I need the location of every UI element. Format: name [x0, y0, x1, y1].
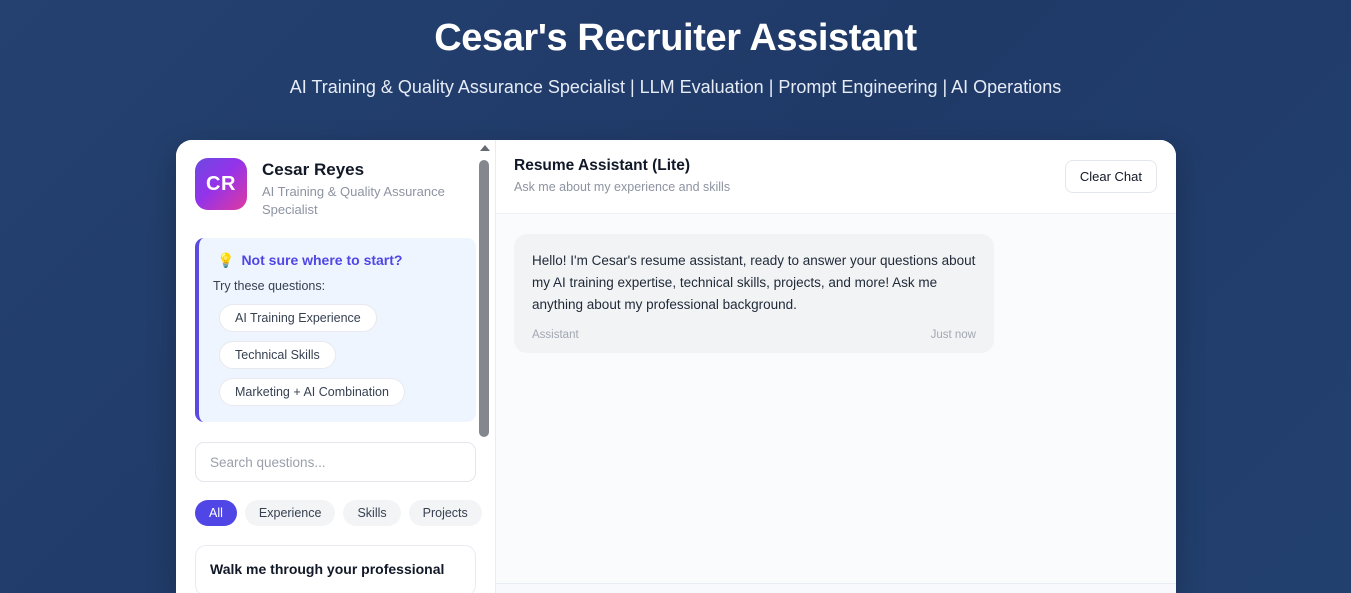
filter-chip-experience[interactable]: Experience: [245, 500, 336, 526]
chat-input-area[interactable]: [496, 584, 1176, 593]
lightbulb-icon: 💡: [217, 253, 234, 267]
clear-chat-button[interactable]: Clear Chat: [1065, 160, 1157, 193]
chat-subtitle: Ask me about my experience and skills: [514, 180, 730, 194]
chat-panel: Resume Assistant (Lite) Ask me about my …: [496, 140, 1176, 593]
page-header: Cesar's Recruiter Assistant AI Training …: [0, 0, 1351, 99]
filter-chip-group: All Experience Skills Projects: [195, 500, 476, 526]
chat-title: Resume Assistant (Lite): [514, 156, 730, 176]
scroll-up-arrow-icon[interactable]: [480, 145, 490, 151]
chat-message-text: Hello! I'm Cesar's resume assistant, rea…: [532, 250, 976, 316]
sidebar-scrollbar[interactable]: [477, 140, 491, 593]
sidebar: CR Cesar Reyes AI Training & Quality Ass…: [176, 140, 496, 593]
chat-message-meta: Assistant Just now: [532, 329, 976, 341]
filter-chip-projects[interactable]: Projects: [409, 500, 482, 526]
question-card-title: Walk me through your professional: [210, 560, 461, 579]
chat-message-list: Hello! I'm Cesar's resume assistant, rea…: [496, 214, 1176, 583]
chat-message-author: Assistant: [532, 329, 579, 341]
profile-name: Cesar Reyes: [262, 159, 457, 180]
chat-message-assistant: Hello! I'm Cesar's resume assistant, rea…: [514, 234, 994, 353]
tip-title-label: Not sure where to start?: [241, 252, 402, 268]
profile-text: Cesar Reyes AI Training & Quality Assura…: [262, 158, 457, 218]
filter-chip-skills[interactable]: Skills: [343, 500, 400, 526]
page-subtitle: AI Training & Quality Assurance Speciali…: [0, 76, 1351, 99]
chat-header: Resume Assistant (Lite) Ask me about my …: [496, 140, 1176, 214]
question-card[interactable]: Walk me through your professional: [195, 545, 476, 593]
page-title: Cesar's Recruiter Assistant: [0, 16, 1351, 62]
profile-role: AI Training & Quality Assurance Speciali…: [262, 183, 457, 218]
sidebar-content: CR Cesar Reyes AI Training & Quality Ass…: [176, 140, 495, 593]
profile-header: CR Cesar Reyes AI Training & Quality Ass…: [195, 158, 476, 218]
suggestion-chip-ai-training-experience[interactable]: AI Training Experience: [219, 304, 377, 332]
tip-box: 💡 Not sure where to start? Try these que…: [195, 238, 476, 422]
search-input[interactable]: [195, 442, 476, 482]
suggestion-list: AI Training Experience Technical Skills …: [213, 304, 462, 406]
filter-chip-all[interactable]: All: [195, 500, 237, 526]
chat-message-timestamp: Just now: [931, 329, 976, 341]
tip-subtitle: Try these questions:: [213, 279, 462, 293]
suggestion-chip-marketing-ai-combination[interactable]: Marketing + AI Combination: [219, 378, 405, 406]
suggestion-chip-technical-skills[interactable]: Technical Skills: [219, 341, 336, 369]
tip-title: 💡 Not sure where to start?: [213, 252, 462, 268]
avatar: CR: [195, 158, 247, 210]
chat-header-text: Resume Assistant (Lite) Ask me about my …: [514, 156, 730, 194]
app-window: CR Cesar Reyes AI Training & Quality Ass…: [176, 140, 1176, 593]
scrollbar-thumb[interactable]: [479, 160, 489, 437]
